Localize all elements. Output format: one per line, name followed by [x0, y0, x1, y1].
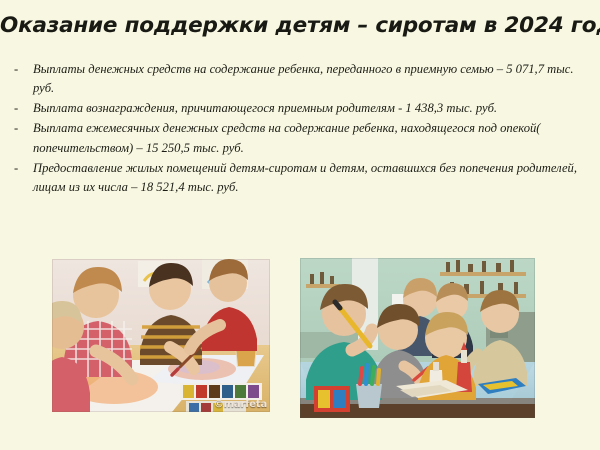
list-item: - Предоставление жилых помещений детям-с… — [0, 159, 600, 197]
presentation-slide: Оказание поддержки детям – сиротам в 202… — [0, 0, 600, 450]
title-block: Оказание поддержки детям – сиротам в 202… — [0, 14, 600, 39]
bullet-dash-icon: - — [14, 60, 18, 79]
content-body: - Выплаты денежных средств на содержание… — [0, 60, 600, 198]
list-item-text: Предоставление жилых помещений детям-сир… — [33, 159, 582, 197]
list-item-text: Выплата вознаграждения, причитающегося п… — [33, 99, 582, 118]
bullet-list: - Выплаты денежных средств на содержание… — [0, 60, 600, 197]
children-painting-photo: ©marfeta — [52, 259, 270, 412]
children-painting-illustration — [52, 259, 270, 412]
bullet-dash-icon: - — [14, 99, 18, 118]
list-item-text: Выплаты денежных средств на содержание р… — [33, 60, 582, 98]
page-title: Оказание поддержки детям – сиротам в 202… — [0, 14, 600, 39]
children-classroom-illustration — [300, 258, 535, 418]
children-classroom-photo — [300, 258, 535, 418]
list-item: - Выплата ежемесячных денежных средств н… — [0, 119, 600, 157]
list-item: - Выплаты денежных средств на содержание… — [0, 60, 600, 98]
bullet-dash-icon: - — [14, 119, 18, 138]
list-item: - Выплата вознаграждения, причитающегося… — [0, 99, 600, 118]
list-item-text: Выплата ежемесячных денежных средств на … — [33, 119, 582, 157]
photo-watermark: ©marfeta — [214, 400, 267, 410]
bullet-dash-icon: - — [14, 159, 18, 178]
